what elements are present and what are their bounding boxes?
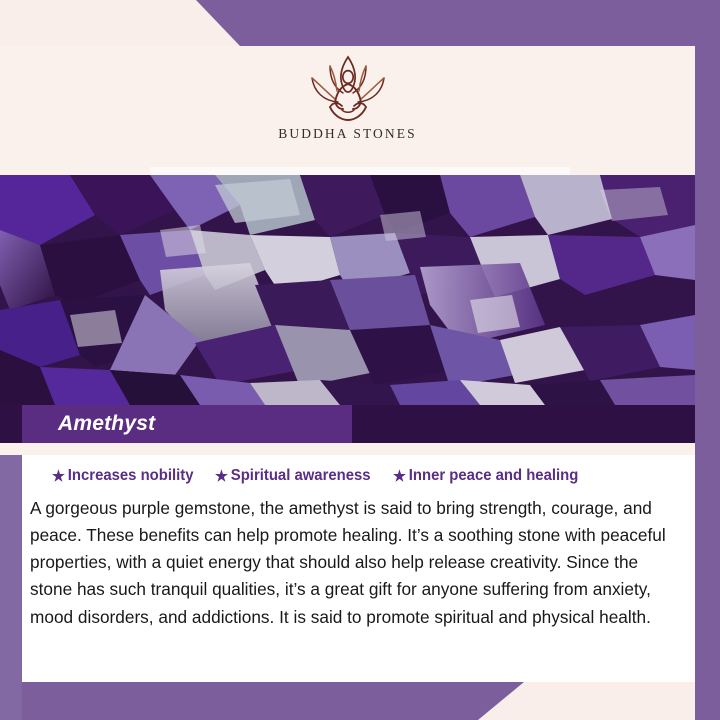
banner-gap — [0, 443, 695, 455]
frame-right-bar — [695, 0, 720, 720]
frame-bottom-bar — [0, 682, 720, 720]
star-icon: ★ — [215, 469, 228, 484]
benefits-row: ★ Increases nobility ★ Spiritual awarene… — [22, 455, 695, 485]
amethyst-crystal-cluster-photo — [0, 175, 695, 405]
benefit-item: ★ Inner peace and healing — [393, 467, 578, 485]
benefit-item: ★ Increases nobility — [52, 467, 194, 485]
star-icon: ★ — [52, 469, 65, 484]
benefit-label: Inner peace and healing — [409, 467, 579, 485]
star-icon: ★ — [393, 469, 406, 484]
stone-name: Amethyst — [58, 412, 155, 436]
lotus-meditation-icon — [290, 52, 406, 124]
photo-artwork — [0, 175, 695, 405]
frame-left-bar — [0, 430, 22, 720]
brand-name: BUDDHA STONES — [278, 126, 416, 142]
stone-name-banner: Amethyst — [22, 405, 352, 443]
infographic-card: BUDDHA STONES Stone Features & Benefits — [0, 0, 720, 720]
content-panel: ★ Increases nobility ★ Spiritual awarene… — [22, 455, 695, 682]
benefit-label: Spiritual awareness — [231, 467, 371, 485]
benefit-item: ★ Spiritual awareness — [215, 467, 371, 485]
stone-description: A gorgeous purple gemstone, the amethyst… — [30, 495, 673, 631]
brand-logo: BUDDHA STONES — [0, 52, 695, 142]
frame-top-bar — [0, 0, 720, 46]
header-section: BUDDHA STONES Stone Features & Benefits — [0, 46, 695, 175]
benefit-label: Increases nobility — [68, 467, 194, 485]
